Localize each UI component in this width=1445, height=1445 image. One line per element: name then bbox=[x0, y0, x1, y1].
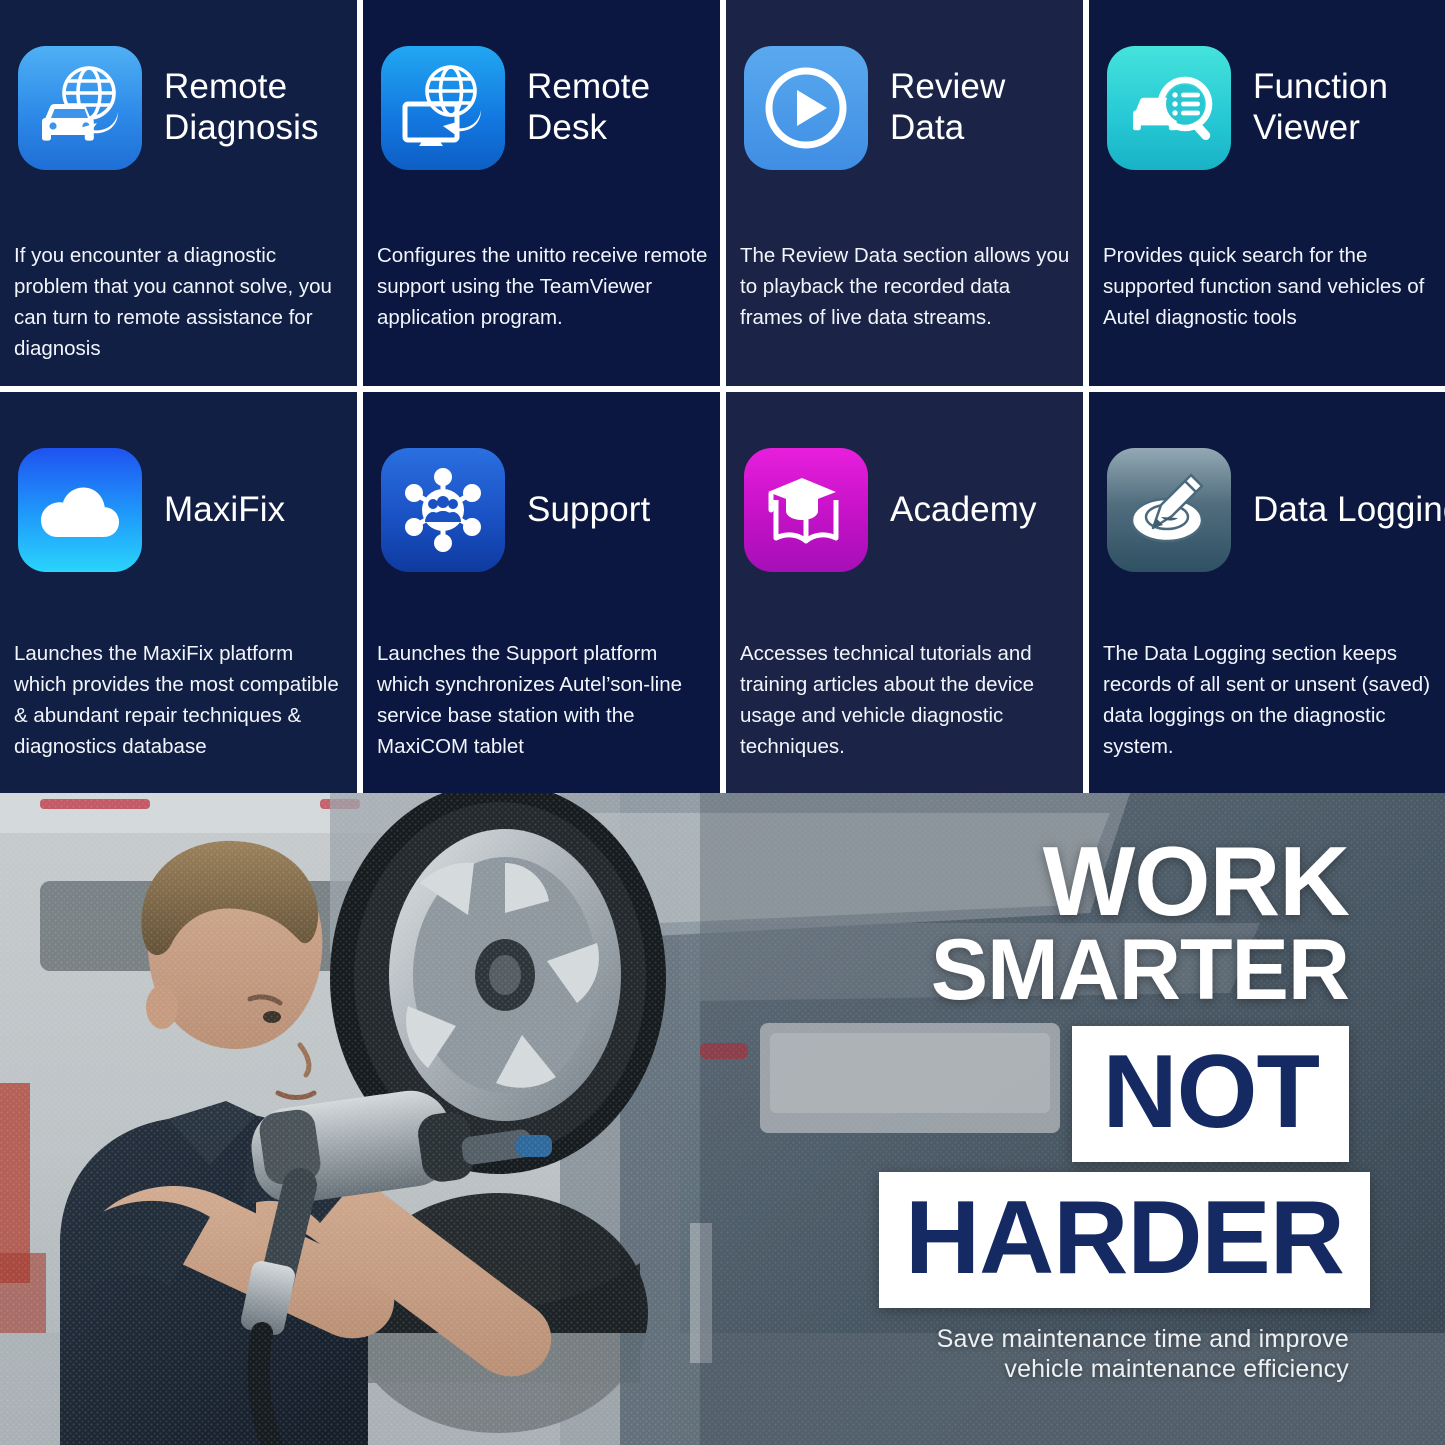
hero-text-overlay: WORK SMARTER NOT HARDER Save maintenance… bbox=[879, 835, 1349, 1385]
hero-headline-harder: HARDER bbox=[879, 1172, 1370, 1308]
card-header: Review Data bbox=[726, 0, 1083, 170]
card-title: Function Viewer bbox=[1253, 67, 1445, 148]
feature-card-academy[interactable]: Academy Accesses technical tutorials and… bbox=[726, 392, 1083, 796]
feature-card-remote-diagnosis[interactable]: Remote Diagnosis If you encounter a diag… bbox=[0, 0, 357, 386]
card-title: Academy bbox=[890, 490, 1037, 531]
hero-tagline: Save maintenance time and improve vehicl… bbox=[879, 1324, 1349, 1385]
card-header: MaxiFix bbox=[0, 392, 357, 572]
card-header: Remote Desk bbox=[363, 0, 720, 170]
feature-card-maxifix[interactable]: MaxiFix Launches the MaxiFix platform wh… bbox=[0, 392, 357, 796]
review-data-play-icon bbox=[744, 46, 868, 170]
card-title: Remote Diagnosis bbox=[164, 67, 357, 148]
support-network-icon bbox=[381, 448, 505, 572]
hero-headline-smarter: SMARTER bbox=[879, 930, 1349, 1012]
card-title: Data Logging bbox=[1253, 490, 1445, 531]
maxifix-cloud-icon bbox=[18, 448, 142, 572]
card-title: Remote Desk bbox=[527, 67, 720, 148]
card-description: Accesses technical tutorials and trainin… bbox=[740, 638, 1073, 763]
card-header: Function Viewer bbox=[1089, 0, 1445, 170]
card-description: Launches the MaxiFix platform which prov… bbox=[14, 638, 347, 763]
feature-grid: Remote Diagnosis If you encounter a diag… bbox=[0, 0, 1445, 790]
hero-headline-not: NOT bbox=[1072, 1026, 1349, 1162]
card-header: Data Logging bbox=[1089, 392, 1445, 572]
remote-desk-icon bbox=[381, 46, 505, 170]
card-description: The Review Data section allows you to pl… bbox=[740, 240, 1073, 333]
promo-page: Remote Diagnosis If you encounter a diag… bbox=[0, 0, 1445, 1445]
hero-headline-work: WORK bbox=[879, 835, 1349, 928]
function-viewer-icon bbox=[1107, 46, 1231, 170]
card-header: Support bbox=[363, 392, 720, 572]
hero-tagline-line2: vehicle maintenance efficiency bbox=[879, 1354, 1349, 1385]
feature-card-data-logging[interactable]: Data Logging The Data Logging section ke… bbox=[1089, 392, 1445, 796]
feature-card-remote-desk[interactable]: Remote Desk Configures the unitto receiv… bbox=[363, 0, 720, 386]
remote-diagnosis-icon bbox=[18, 46, 142, 170]
card-description: Launches the Support platform which sync… bbox=[377, 638, 710, 763]
card-title: Support bbox=[527, 490, 650, 531]
card-header: Academy bbox=[726, 392, 1083, 572]
card-description: Configures the unitto receive remote sup… bbox=[377, 240, 710, 333]
card-description: If you encounter a diagnostic problem th… bbox=[14, 240, 347, 365]
card-header: Remote Diagnosis bbox=[0, 0, 357, 170]
card-title: MaxiFix bbox=[164, 490, 285, 531]
card-description: The Data Logging section keeps records o… bbox=[1103, 638, 1445, 763]
card-title: Review Data bbox=[890, 67, 1083, 148]
academy-graduation-cap-icon bbox=[744, 448, 868, 572]
feature-card-review-data[interactable]: Review Data The Review Data section allo… bbox=[726, 0, 1083, 386]
feature-card-support[interactable]: Support Launches the Support platform wh… bbox=[363, 392, 720, 796]
card-description: Provides quick search for the supported … bbox=[1103, 240, 1445, 333]
feature-card-function-viewer[interactable]: Function Viewer Provides quick search fo… bbox=[1089, 0, 1445, 386]
hero-banner: WORK SMARTER NOT HARDER Save maintenance… bbox=[0, 793, 1445, 1445]
hero-tagline-line1: Save maintenance time and improve bbox=[879, 1324, 1349, 1355]
data-logging-pencil-icon bbox=[1107, 448, 1231, 572]
